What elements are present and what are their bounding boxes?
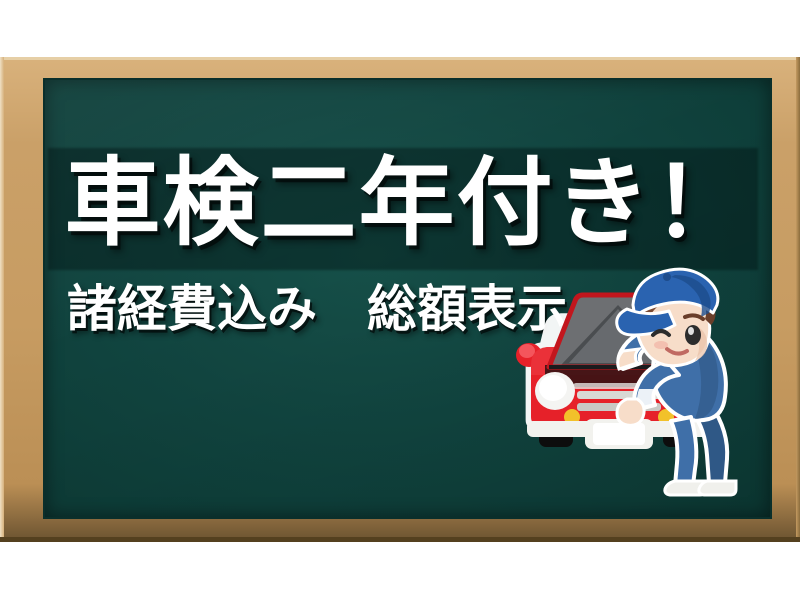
frame-right-shadow xyxy=(796,57,800,542)
frame-left-highlight xyxy=(0,57,4,542)
signboard-canvas: 車検二年付き！ 諸経費込み 総額表示 xyxy=(0,0,800,600)
chalkboard: 車検二年付き！ 諸経費込み 総額表示 xyxy=(45,80,770,517)
headline-text: 車検二年付き！ xyxy=(45,142,770,264)
mechanic-with-red-car-illustration xyxy=(515,265,765,500)
frame-top-highlight xyxy=(0,57,800,60)
frame-bottom-shadow xyxy=(0,537,800,542)
eye-open xyxy=(685,325,701,345)
